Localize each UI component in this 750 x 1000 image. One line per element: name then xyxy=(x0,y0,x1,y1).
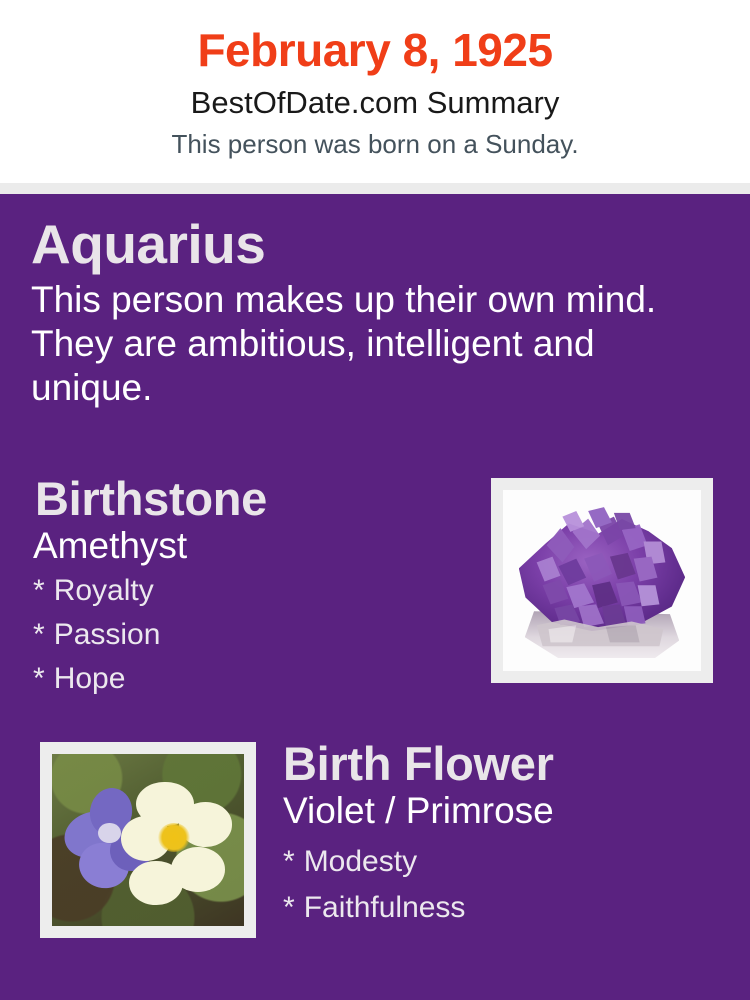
bullet-star-icon: * xyxy=(33,620,45,650)
bullet-star-icon: * xyxy=(283,893,295,923)
primrose-petal xyxy=(129,861,183,906)
birthstone-trait-list: *Royalty *Passion *Hope xyxy=(33,576,463,694)
summary-page: February 8, 1925 BestOfDate.com Summary … xyxy=(0,0,750,1000)
page-title-date: February 8, 1925 xyxy=(0,26,750,74)
zodiac-description: This person makes up their own mind. The… xyxy=(31,278,681,410)
birthstone-name: Amethyst xyxy=(33,526,463,566)
birth-flower-trait-list: *Modesty *Faithfulness xyxy=(283,847,733,923)
site-summary-label: BestOfDate.com Summary xyxy=(0,86,750,120)
page-header: February 8, 1925 BestOfDate.com Summary … xyxy=(0,0,750,183)
zodiac-sign-name: Aquarius xyxy=(31,216,691,272)
birth-flower-name: Violet / Primrose xyxy=(283,791,733,831)
birth-flower-heading: Birth Flower xyxy=(283,740,733,789)
list-item: *Hope xyxy=(33,664,463,694)
birthstone-heading: Birthstone xyxy=(35,475,463,524)
amethyst-shards-svg xyxy=(503,490,701,671)
zodiac-section: Aquarius This person makes up their own … xyxy=(31,216,691,410)
birthstone-section: Birthstone Amethyst *Royalty *Passion *H… xyxy=(33,475,463,708)
birth-flower-trait-label: Faithfulness xyxy=(304,891,466,924)
list-item: *Royalty xyxy=(33,576,463,606)
bullet-star-icon: * xyxy=(283,847,295,877)
list-item: *Modesty xyxy=(283,847,733,877)
birthstone-trait-label: Hope xyxy=(54,662,126,695)
amethyst-illustration xyxy=(503,490,701,671)
amethyst-crystal-photo xyxy=(503,490,701,671)
birthstone-trait-label: Passion xyxy=(54,618,161,651)
details-panel: Aquarius This person makes up their own … xyxy=(0,194,750,1000)
primrose-center xyxy=(158,823,191,852)
born-day-text: This person was born on a Sunday. xyxy=(0,130,750,159)
header-divider xyxy=(0,183,750,194)
birth-flower-trait-label: Modesty xyxy=(304,845,417,878)
list-item: *Passion xyxy=(33,620,463,650)
birthstone-image-frame xyxy=(491,478,713,683)
bullet-star-icon: * xyxy=(33,664,45,694)
birth-flower-section: Birth Flower Violet / Primrose *Modesty … xyxy=(283,740,733,939)
birth-flower-image-frame xyxy=(40,742,256,938)
bullet-star-icon: * xyxy=(33,576,45,606)
list-item: *Faithfulness xyxy=(283,893,733,923)
violet-primrose-photo xyxy=(52,754,244,926)
birthstone-trait-label: Royalty xyxy=(54,574,154,607)
